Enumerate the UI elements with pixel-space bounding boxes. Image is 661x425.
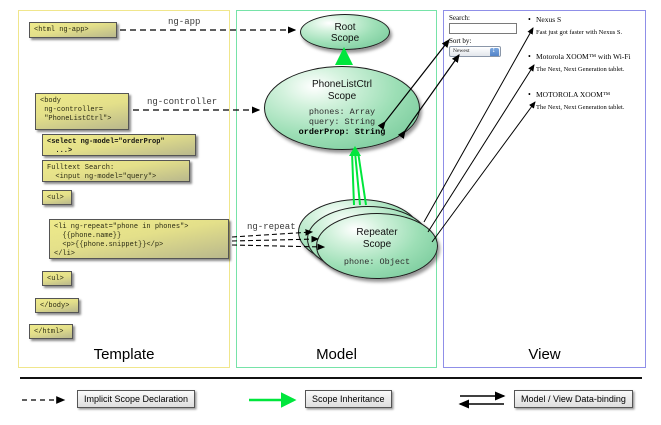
legend-label-model-view-data-binding: Model / View Data-binding	[514, 390, 633, 408]
phonelistctrl-scope-ellipse: PhoneListCtrl Scope phones: Array query:…	[264, 66, 420, 150]
sort-by-selected-value: Newest	[453, 48, 470, 54]
ul-open-tag: <ul>	[42, 190, 72, 205]
search-input[interactable]	[449, 23, 517, 34]
search-label: Search:	[449, 14, 470, 22]
phone-name[interactable]: Motorola XOOM™ with Wi-Fi	[536, 52, 631, 61]
phone-snippet: The Next, Next Generation tablet.	[536, 66, 624, 73]
ul-close-tag: <ul>	[42, 271, 72, 286]
sort-by-select[interactable]: Newest	[449, 46, 501, 57]
legend-divider	[20, 377, 642, 379]
column-model: Model	[236, 10, 437, 368]
root-scope-ellipse: Root Scope	[300, 14, 390, 50]
legend: Implicit Scope Declaration Scope Inherit…	[20, 388, 642, 412]
body-controller-tag: <body ng-controller= "PhoneListCtrl">	[35, 93, 129, 130]
root-scope-title-2: Scope	[301, 33, 389, 45]
phonelistctrl-prop-query: query: String	[265, 117, 419, 127]
sort-by-label: Sort by:	[449, 37, 471, 45]
column-label-template: Template	[19, 346, 229, 363]
phonelistctrl-prop-orderprop: orderProp: String	[265, 127, 419, 137]
phonelistctrl-scope-title-2: Scope	[265, 91, 419, 103]
repeater-scope-title-1: Repeater	[317, 227, 437, 239]
phone-name[interactable]: MOTOROLA XOOM™	[536, 90, 610, 99]
phone-list-app-view: Search: Sort by: Newest Nexus S Fast jus…	[449, 14, 641, 124]
ng-controller-label: ng-controller	[147, 97, 217, 107]
root-scope-title-1: Root	[301, 22, 389, 34]
html-close-tag: </html>	[29, 324, 73, 339]
repeater-scope-ellipse-front: Repeater Scope phone: Object	[316, 213, 438, 279]
select-orderprop-tag: <select ng-model="orderProp" ...>	[42, 134, 196, 156]
html-open-tag: <html ng-app>	[29, 22, 117, 38]
body-close-tag: </body>	[35, 298, 79, 313]
ng-app-label: ng-app	[168, 17, 200, 27]
phonelistctrl-prop-phones: phones: Array	[265, 107, 419, 117]
phone-snippet: The Next, Next Generation tablet.	[536, 104, 624, 111]
legend-label-implicit-scope-declaration: Implicit Scope Declaration	[77, 390, 195, 408]
phone-name[interactable]: Nexus S	[536, 15, 561, 24]
column-template: Template	[18, 10, 230, 368]
repeater-prop-phone: phone: Object	[317, 257, 437, 267]
phone-snippet: Fast just got faster with Nexus S.	[536, 29, 622, 36]
phonelistctrl-scope-title-1: PhoneListCtrl	[265, 79, 419, 91]
legend-label-scope-inheritance: Scope Inheritance	[305, 390, 392, 408]
select-stepper-icon[interactable]	[490, 48, 499, 57]
column-label-model: Model	[237, 346, 436, 363]
ng-repeat-label: ng-repeat	[247, 222, 296, 232]
repeater-scope-title-2: Scope	[317, 239, 437, 251]
li-ng-repeat-tag: <li ng-repeat="phone in phones"> {{phone…	[49, 219, 229, 259]
column-label-view: View	[444, 346, 645, 363]
fulltext-search-input: Fulltext Search: <input ng-model="query"…	[42, 160, 190, 182]
diagram-canvas: Template Model View <html ng-app> <body …	[0, 0, 661, 425]
